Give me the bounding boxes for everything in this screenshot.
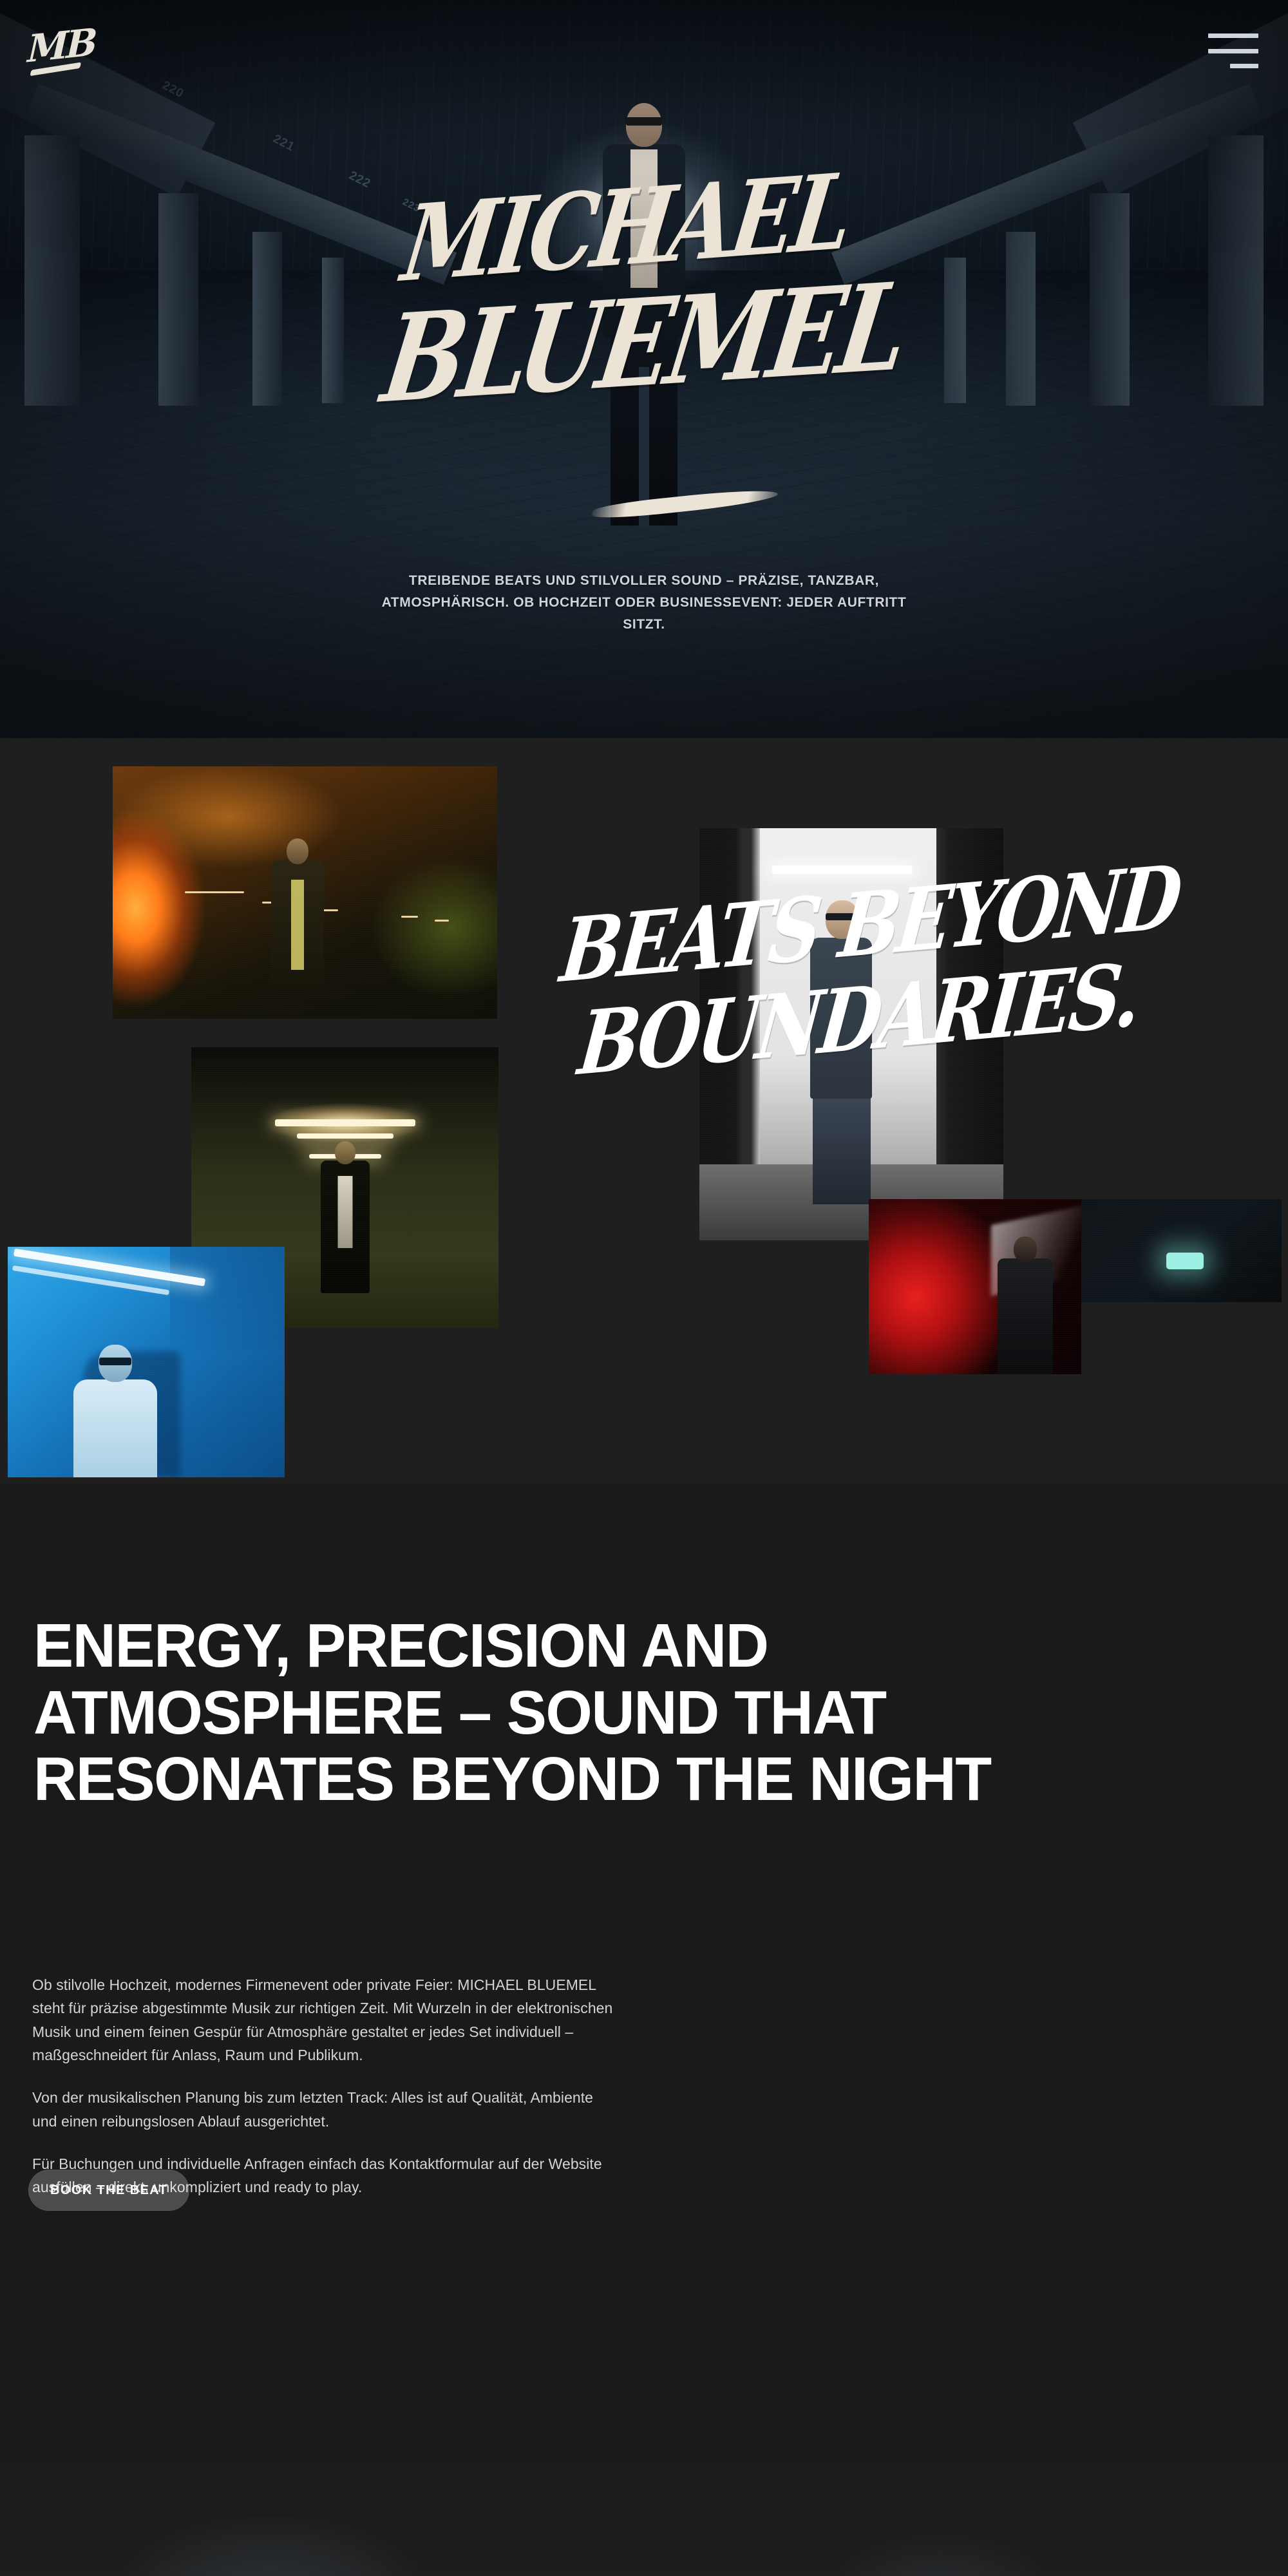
hero-title-line2: BLUEMEL: [377, 276, 911, 411]
page-title-line3: RESONATES BEYOND THE NIGHT: [33, 1746, 1220, 1813]
brand-logo-text: MB: [27, 20, 96, 71]
photo-red-light[interactable]: [869, 1199, 1081, 1374]
about-paragraph-2: Von der musikalischen Planung bis zum le…: [32, 2086, 618, 2133]
photo-orange-underpass[interactable]: [113, 766, 497, 1019]
photo-gallery-section: BEATS BEYOND BOUNDARIES.: [0, 738, 1288, 1484]
hero-subtitle: TREIBENDE BEATS UND STILVOLLER SOUND – P…: [380, 570, 908, 636]
book-the-beat-button[interactable]: BOOK THE BEAT: [28, 2170, 189, 2211]
hamburger-menu-icon[interactable]: [1208, 33, 1258, 68]
brand-logo[interactable]: MB: [26, 23, 93, 86]
brush-underline-stroke: [591, 486, 780, 522]
site-header: MB: [0, 0, 1288, 97]
hamburger-bar-1: [1208, 33, 1258, 38]
photo-dark-teal[interactable]: [1068, 1199, 1282, 1302]
hamburger-bar-2: [1208, 49, 1258, 53]
photo-blue-stairwell[interactable]: [8, 1247, 285, 1477]
about-paragraph-1: Ob stilvolle Hochzeit, modernes Firmenev…: [32, 1973, 618, 2067]
gallery-brush-headline: BEATS BEYOND BOUNDARIES.: [560, 893, 1256, 1124]
about-section: ENERGY, PRECISION AND ATMOSPHERE – SOUND…: [0, 1484, 1288, 2576]
next-section-peek: [0, 2383, 1288, 2576]
hero-section: 220 221 222 223 MICHAEL BLUEMEL TREIBEND…: [0, 0, 1288, 738]
page-title-line1: ENERGY, PRECISION AND: [33, 1613, 1220, 1680]
hero-typography: MICHAEL BLUEMEL TREIBENDE BEATS UND STIL…: [0, 0, 1288, 738]
page-title: ENERGY, PRECISION AND ATMOSPHERE – SOUND…: [33, 1613, 1220, 1813]
about-body-copy: Ob stilvolle Hochzeit, modernes Firmenev…: [32, 1973, 618, 2199]
hamburger-bar-3: [1230, 64, 1258, 68]
page-title-line2: ATMOSPHERE – SOUND THAT: [33, 1680, 1220, 1747]
